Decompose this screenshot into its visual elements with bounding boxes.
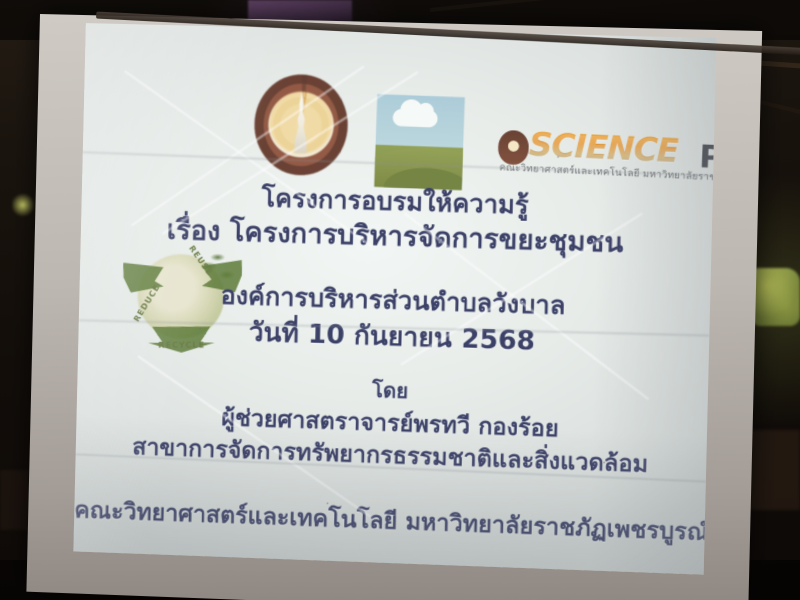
background-shelf [748,430,800,510]
dust-speck [199,327,201,329]
foliage-patch [752,268,800,326]
projector-screen: SCIENCE PCRU คณะวิทยาศาสตร์และเทคโนโลยี … [26,14,762,600]
dust-speck [326,502,328,504]
slide-footer: คณะวิทยาศาสตร์และเทคโนโลยี มหาวิทยาลัยรา… [74,492,705,551]
lamp-glow [12,192,34,218]
dust-speck [557,156,559,158]
cloud-icon [393,109,438,128]
landscape-thumbnail-image [374,94,465,190]
dust-speck [603,461,605,463]
photo-scene: SCIENCE PCRU คณะวิทยาศาสตร์และเทคโนโลยี … [0,0,800,600]
projected-slide-area: SCIENCE PCRU คณะวิทยาศาสตร์และเทคโนโลยี … [73,23,716,575]
